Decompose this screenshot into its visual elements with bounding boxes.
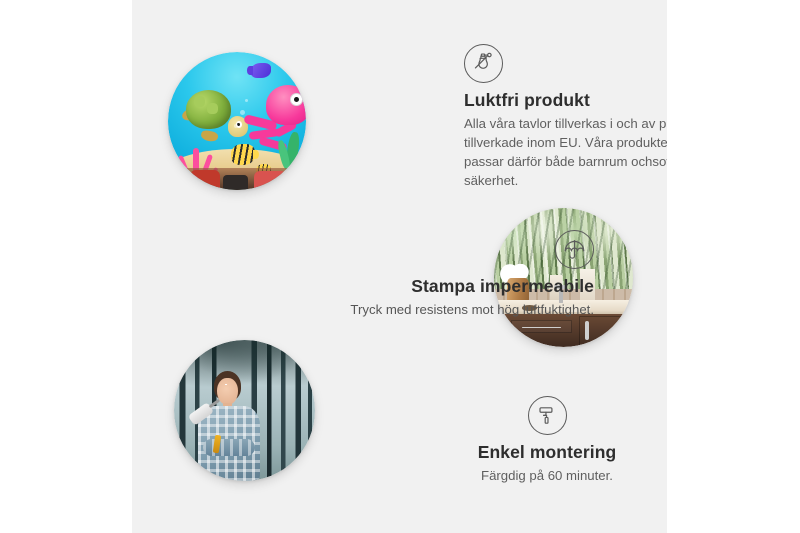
feature-title: Enkel montering [429, 442, 665, 462]
umbrella-icon [555, 230, 594, 269]
feature-panel: Luktfri produkt Alla våra tavlor tillver… [132, 0, 667, 533]
bubble [240, 110, 245, 115]
no-odour-spray-bottle-icon [464, 44, 503, 83]
icon-wrapper [429, 396, 665, 435]
room-foreground-strip [168, 168, 306, 190]
feature-body: Tryck med resistens mot hög luftfuktighe… [344, 301, 594, 320]
feature-title: Stampa impermeabile [344, 276, 594, 296]
feature-title: Luktfri produkt [464, 90, 667, 110]
feature-body: Alla våra tavlor tillverkas i och av pro… [464, 115, 667, 191]
woman-figure [194, 371, 273, 481]
feature-block-easy-install: Enkel montering Färgdig på 60 minuter. [429, 396, 665, 486]
icon-wrapper [344, 230, 594, 269]
sea-turtle [182, 89, 245, 139]
feature-body: Färgdig på 60 minuter. [429, 467, 665, 486]
icon-wrapper [464, 44, 667, 83]
bubble [234, 124, 238, 128]
striped-fish-large [231, 144, 254, 165]
underwater-cartoon-mural-photo [168, 52, 306, 190]
screenshot-root: Luktfri produkt Alla våra tavlor tillver… [0, 0, 800, 533]
woman-with-paint-roller-forest-photo [174, 340, 315, 481]
feature-block-odourless: Luktfri produkt Alla våra tavlor tillver… [464, 44, 667, 191]
feature-block-waterproof: Stampa impermeabile Tryck med resistens … [344, 230, 594, 320]
paint-roller-icon [528, 396, 567, 435]
